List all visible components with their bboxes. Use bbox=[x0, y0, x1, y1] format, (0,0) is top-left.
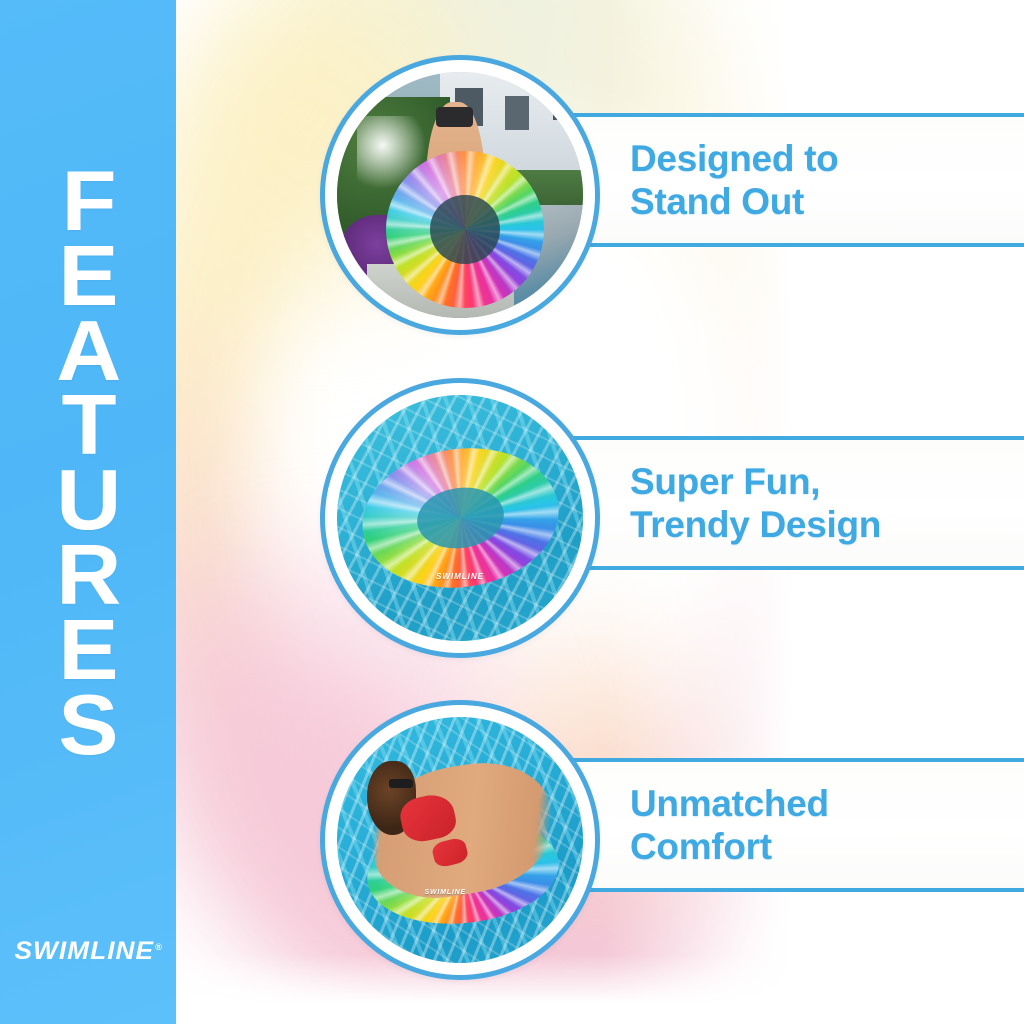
feature-label-text: Unmatched Comfort bbox=[630, 782, 829, 869]
photo-rainbow-float bbox=[386, 151, 543, 308]
swimline-logo: SWIMLINE® bbox=[14, 937, 163, 966]
feature-photo-float-on-water: SWIMLINE bbox=[337, 395, 583, 641]
registered-trademark-icon: ® bbox=[155, 942, 163, 952]
features-letter: S bbox=[58, 689, 117, 764]
infographic-canvas: F E A T U R E S SWIMLINE® Designed to St… bbox=[0, 0, 1024, 1024]
feature-photo-woman-in-float: SWIMLINE bbox=[337, 717, 583, 963]
feature-label-text: Designed to Stand Out bbox=[630, 137, 838, 224]
feature-photo-frame bbox=[320, 55, 600, 335]
swimline-logo-text: SWIMLINE bbox=[14, 937, 154, 965]
float-brand-wordmark: SWIMLINE bbox=[425, 889, 466, 896]
feature-label-text: Super Fun, Trendy Design bbox=[630, 460, 881, 547]
sunglasses-icon bbox=[389, 779, 414, 789]
feature-photo-frame: SWIMLINE bbox=[320, 378, 600, 658]
float-brand-wordmark: SWIMLINE bbox=[436, 572, 484, 581]
float-highlight bbox=[386, 151, 543, 308]
feature-photo-frame: SWIMLINE bbox=[320, 700, 600, 980]
feature-photo-boy-holding-float bbox=[337, 72, 583, 318]
features-sidebar: F E A T U R E S SWIMLINE® bbox=[0, 0, 176, 1024]
features-vertical-title: F E A T U R E S bbox=[0, 165, 176, 763]
